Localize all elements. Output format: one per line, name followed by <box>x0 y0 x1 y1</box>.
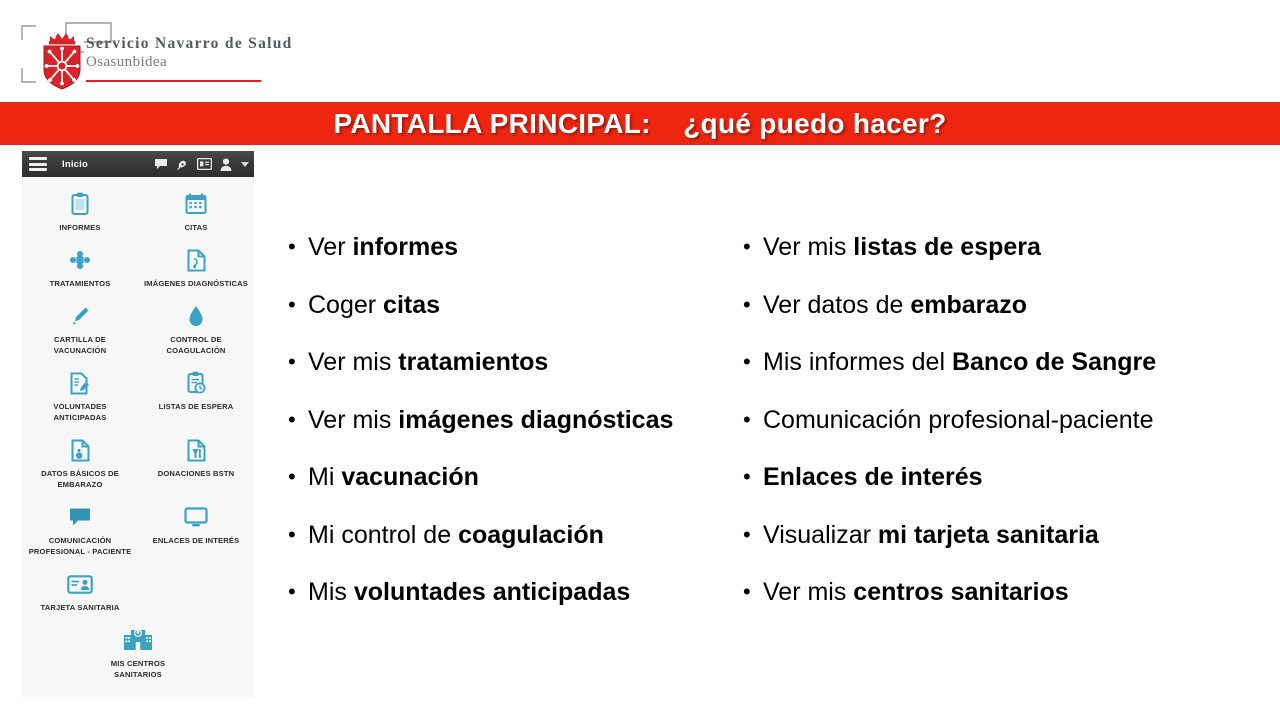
bullet-columns: • Ver informes • Coger citas • Ver mis t… <box>278 232 1280 635</box>
calendar-icon <box>185 191 207 217</box>
bullet-glyph: • <box>278 405 308 435</box>
document-scan-icon <box>187 247 206 273</box>
logo-title-line2: Osasunbidea <box>86 53 293 72</box>
user-account-icon[interactable] <box>220 158 232 171</box>
app-topbar-title: Inicio <box>62 159 88 170</box>
app-tile-voluntades-anticipadas[interactable]: VOLUNTADES ANTICIPADAS <box>22 362 138 429</box>
app-screenshot-panel: Inicio <box>22 151 254 697</box>
hospital-icon <box>123 627 153 653</box>
app-tile-imagenes-diagnosticas[interactable]: IMÁGENES DIAGNÓSTICAS <box>138 239 254 295</box>
bullet-prefix: Mi <box>308 463 341 491</box>
app-tile-label: MIS CENTROS SANITARIOS <box>86 658 190 680</box>
bullet-text: Enlaces de interés <box>763 462 983 492</box>
bullet-column-left: • Ver informes • Coger citas • Ver mis t… <box>278 232 733 635</box>
bullet-bold: embarazo <box>910 291 1027 319</box>
app-topbar: Inicio <box>22 151 254 177</box>
app-tile-informes[interactable]: INFORMES <box>22 183 138 239</box>
pills-cross-icon <box>69 247 91 273</box>
bullet-bold: imágenes diagnósticas <box>398 406 673 434</box>
app-tile-enlaces-interes[interactable]: ENLACES DE INTERÉS <box>138 496 254 563</box>
bullet-bold: coagulación <box>458 521 604 549</box>
blood-drop-icon <box>188 303 204 329</box>
blood-donation-document-icon <box>187 437 206 463</box>
bullet-bold: voluntades anticipadas <box>354 578 630 606</box>
bullet-prefix: Ver mis <box>308 348 398 376</box>
bullet-bold: mi tarjeta sanitaria <box>878 521 1099 549</box>
pregnancy-document-icon <box>71 437 90 463</box>
bullet-text: Ver mis centros sanitarios <box>763 577 1069 607</box>
id-card-icon[interactable] <box>197 158 212 170</box>
list-item: • Ver mis tratamientos <box>278 347 733 405</box>
bullet-glyph: • <box>733 520 763 550</box>
app-tile-mis-centros-sanitarios[interactable]: MIS CENTROS SANITARIOS <box>22 619 254 686</box>
bullet-text: Ver mis listas de espera <box>763 232 1041 262</box>
app-tile-tarjeta-sanitaria[interactable]: TARJETA SANITARIA <box>22 563 138 619</box>
bullet-glyph: • <box>278 520 308 550</box>
list-item: • Mi control de coagulación <box>278 520 733 578</box>
bullet-prefix: Ver mis <box>308 406 398 434</box>
bullet-bold: vacunación <box>341 463 479 491</box>
document-edit-icon <box>70 370 90 396</box>
health-card-icon <box>67 571 93 597</box>
app-tile-label: IMÁGENES DIAGNÓSTICAS <box>144 278 248 289</box>
navarra-coat-of-arms-icon <box>34 28 90 92</box>
list-item: • Ver informes <box>278 232 733 290</box>
app-tile-label: TARJETA SANITARIA <box>40 602 119 613</box>
list-item: • Enlaces de interés <box>733 462 1273 520</box>
bullet-column-right: • Ver mis listas de espera • Ver datos d… <box>733 232 1273 635</box>
bullet-bold: Banco de Sangre <box>952 348 1156 376</box>
list-item: • Ver mis centros sanitarios <box>733 577 1273 635</box>
bullet-glyph: • <box>733 462 763 492</box>
bullet-glyph: • <box>278 232 308 262</box>
bullet-bold: Enlaces de interés <box>763 463 983 491</box>
bullet-prefix: Coger <box>308 291 383 319</box>
bullet-text: Visualizar mi tarjeta sanitaria <box>763 520 1099 550</box>
hamburger-icon[interactable] <box>29 157 47 171</box>
bullet-prefix: Ver datos de <box>763 291 910 319</box>
app-tile-label: CONTROL DE COAGULACIÓN <box>144 334 248 356</box>
app-tile-tratamientos[interactable]: TRATAMIENTOS <box>22 239 138 295</box>
bullet-bold: informes <box>352 233 458 261</box>
app-tile-cartilla-vacunacion[interactable]: CARTILLA DE VACUNACIÓN <box>22 295 138 362</box>
bullet-text: Ver informes <box>308 232 458 262</box>
app-tile-datos-embarazo[interactable]: DATOS BÁSICOS DE EMBARAZO <box>22 429 138 496</box>
bullet-glyph: • <box>278 462 308 492</box>
chevron-down-icon[interactable] <box>241 162 249 167</box>
bullet-text: Mi control de coagulación <box>308 520 604 550</box>
bullet-prefix: Ver mis <box>763 233 853 261</box>
app-tile-control-coagulacion[interactable]: CONTROL DE COAGULACIÓN <box>138 295 254 362</box>
app-tile-listas-espera[interactable]: LISTAS DE ESPERA <box>138 362 254 429</box>
bullet-bold: listas de espera <box>853 233 1041 261</box>
app-tile-donaciones-bstn[interactable]: DONACIONES BSTN <box>138 429 254 496</box>
clipboard-icon <box>70 191 90 217</box>
message-bubble-icon[interactable] <box>154 158 168 170</box>
bullet-prefix: Comunicación profesional-paciente <box>763 406 1154 434</box>
page-title-part1: PANTALLA PRINCIPAL: <box>333 108 650 139</box>
bullet-glyph: • <box>733 405 763 435</box>
app-tile-label: TRATAMIENTOS <box>50 278 111 289</box>
app-tile-comunicacion-profesional-paciente[interactable]: COMUNICACIÓN PROFESIONAL - PACIENTE <box>22 496 138 563</box>
bullet-prefix: Ver <box>308 233 352 261</box>
brand-logo: Servicio Navarro de Salud Osasunbidea <box>18 22 278 98</box>
bullet-text: Ver mis imágenes diagnósticas <box>308 405 673 435</box>
bullet-text: Coger citas <box>308 290 440 320</box>
app-tile-label: VOLUNTADES ANTICIPADAS <box>28 401 132 423</box>
bullet-glyph: • <box>278 347 308 377</box>
bullet-glyph: • <box>733 577 763 607</box>
app-tile-label: DONACIONES BSTN <box>158 468 235 479</box>
bell-icon[interactable] <box>176 158 189 171</box>
slide-title-band: PANTALLA PRINCIPAL: ¿qué puedo hacer? <box>0 102 1280 145</box>
list-item: • Mis informes del Banco de Sangre <box>733 347 1273 405</box>
bullet-text: Mis voluntades anticipadas <box>308 577 630 607</box>
clipboard-clock-icon <box>186 370 206 396</box>
monitor-icon <box>184 504 208 530</box>
list-item: • Visualizar mi tarjeta sanitaria <box>733 520 1273 578</box>
bullet-bold: tratamientos <box>398 348 548 376</box>
bullet-text: Mi vacunación <box>308 462 479 492</box>
bullet-glyph: • <box>733 290 763 320</box>
app-tile-label: COMUNICACIÓN PROFESIONAL - PACIENTE <box>28 535 132 557</box>
bullet-prefix: Mi control de <box>308 521 458 549</box>
logo-title-line1: Servicio Navarro de Salud <box>86 34 293 53</box>
list-item: • Mi vacunación <box>278 462 733 520</box>
bullet-text: Ver datos de embarazo <box>763 290 1027 320</box>
chat-bubble-icon <box>68 504 92 530</box>
list-item: • Comunicación profesional-paciente <box>733 405 1273 463</box>
list-item: • Ver mis imágenes diagnósticas <box>278 405 733 463</box>
page-title: PANTALLA PRINCIPAL: ¿qué puedo hacer? <box>0 102 1280 145</box>
app-tile-label: INFORMES <box>59 222 100 233</box>
list-item: • Coger citas <box>278 290 733 348</box>
app-tile-label: LISTAS DE ESPERA <box>159 401 234 412</box>
bullet-bold: centros sanitarios <box>853 578 1068 606</box>
bullet-glyph: • <box>278 290 308 320</box>
syringe-icon <box>69 303 91 329</box>
app-tile-citas[interactable]: CITAS <box>138 183 254 239</box>
list-item: • Ver mis listas de espera <box>733 232 1273 290</box>
bullet-glyph: • <box>733 347 763 377</box>
bullet-text: Comunicación profesional-paciente <box>763 405 1154 435</box>
bullet-text: Ver mis tratamientos <box>308 347 548 377</box>
bullet-bold: citas <box>383 291 440 319</box>
list-item: • Mis voluntades anticipadas <box>278 577 733 635</box>
bullet-prefix: Visualizar <box>763 521 878 549</box>
bullet-glyph: • <box>733 232 763 262</box>
app-topbar-icons <box>154 151 249 177</box>
list-item: • Ver datos de embarazo <box>733 290 1273 348</box>
app-tile-label: DATOS BÁSICOS DE EMBARAZO <box>28 468 132 490</box>
app-tile-grid: INFORMES CITAS <box>22 177 254 686</box>
logo-underline <box>86 80 261 82</box>
app-tile-label: CITAS <box>185 222 208 233</box>
bullet-prefix: Mis <box>308 578 354 606</box>
app-tile-label: ENLACES DE INTERÉS <box>153 535 240 546</box>
page-title-part2: ¿qué puedo hacer? <box>683 108 946 139</box>
bullet-prefix: Mis informes del <box>763 348 952 376</box>
bullet-prefix: Ver mis <box>763 578 853 606</box>
bullet-glyph: • <box>278 577 308 607</box>
app-tile-label: CARTILLA DE VACUNACIÓN <box>28 334 132 356</box>
bullet-text: Mis informes del Banco de Sangre <box>763 347 1156 377</box>
